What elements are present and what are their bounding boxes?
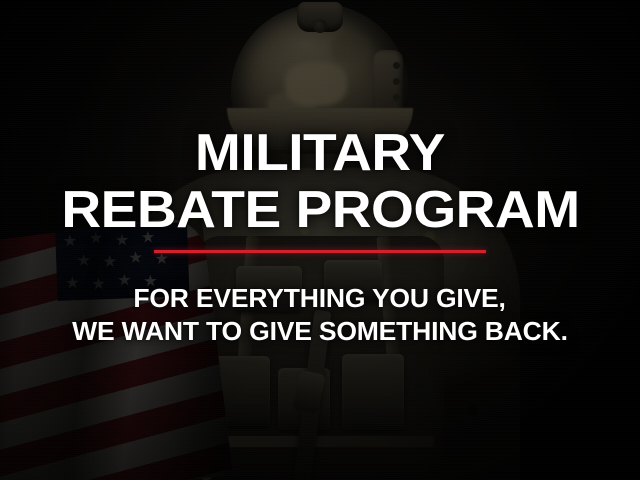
subhead-line-2: WE WANT TO GIVE SOMETHING BACK.	[72, 316, 568, 347]
headline-line-2: REBATE PROGRAM	[61, 185, 579, 236]
banner-content: MILITARY REBATE PROGRAM FOR EVERYTHING Y…	[0, 0, 640, 480]
subhead-line-1: FOR EVERYTHING YOU GIVE,	[134, 283, 506, 314]
military-rebate-banner: MILITARY REBATE PROGRAM FOR EVERYTHING Y…	[0, 0, 640, 480]
red-divider-rule	[154, 250, 486, 253]
headline-line-1: MILITARY	[195, 128, 445, 179]
